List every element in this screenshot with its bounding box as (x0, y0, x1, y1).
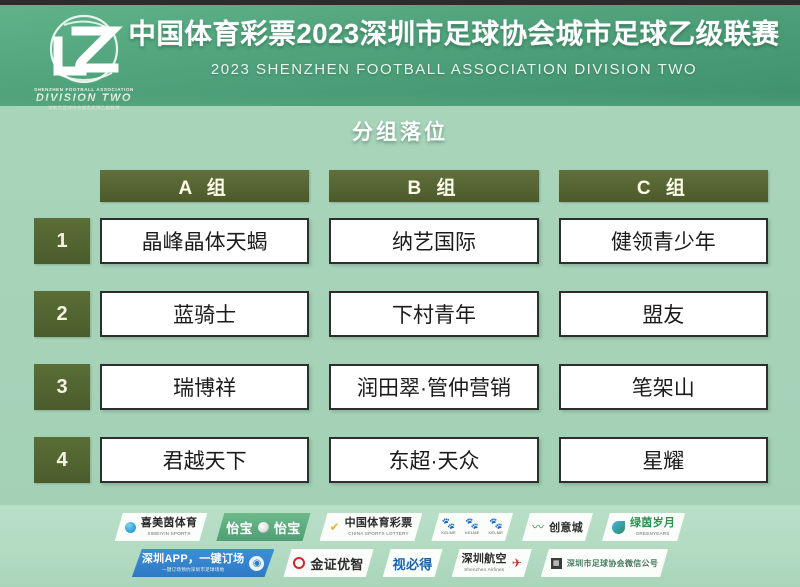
sponsor-name: 怡宝 (226, 518, 253, 537)
logo-caption-bottom: 深圳市足球协会城市足球乙级联赛 (24, 105, 144, 111)
sponsor-bar: 喜美茵体育 XIMEIYIN SPORTS 怡宝 怡宝 ✔ 中国体育彩票 CHI… (0, 505, 800, 587)
group-header-c: C 组 (559, 170, 768, 202)
team-cell-c4[interactable]: 星耀 (559, 437, 768, 483)
sponsor-name: 绿茵岁月 (630, 517, 675, 531)
sponsor-name: 深圳航空 (462, 553, 507, 567)
kelme-paw-icon: 🐾 (465, 519, 479, 530)
team-cell-a2[interactable]: 蓝骑士 (100, 291, 309, 337)
sponsor-sports-lottery[interactable]: ✔ 中国体育彩票 CHINA SPORTS LOTTERY (320, 513, 423, 541)
team-cell-c3[interactable]: 笔架山 (559, 364, 768, 410)
row-number-badge: 1 (34, 218, 90, 264)
sponsor-name-en: 一键订场预约深圳市足球场地 (162, 567, 224, 573)
plane-icon: ✈ (512, 557, 522, 569)
sponsor-name-en: KELME (441, 530, 456, 535)
sponsor-shibide[interactable]: 视必得 (383, 549, 443, 577)
table-row: 1 晶峰晶体天蝎 纳艺国际 健领青少年 (0, 218, 800, 264)
sponsor-shenzhen-airlines[interactable]: 深圳航空 Shenzhen Airlines ✈ (452, 549, 532, 577)
team-cell-c2[interactable]: 盟友 (559, 291, 768, 337)
kelme-paw-icon: 🐾 (442, 519, 456, 530)
poster-root: SHENZHEN FOOTBALL ASSOCIATION DIVISION T… (0, 0, 800, 587)
team-cell-b3[interactable]: 润田翠·管仲营销 (329, 364, 538, 410)
table-row: 2 蓝骑士 下村青年 盟友 (0, 291, 800, 337)
yibao-panda-icon (258, 522, 269, 533)
sponsor-name-en: XIMEIYIN SPORTS (147, 531, 190, 537)
header-titles: 中国体育彩票2023深圳市足球协会城市足球乙级联赛 2023 SHENZHEN … (122, 15, 786, 78)
team-cell-a3[interactable]: 瑞博祥 (100, 364, 309, 410)
group-header-row: A 组 B 组 C 组 (0, 170, 800, 202)
sponsor-shenzhen-app[interactable]: 深圳APP，一键订场 一键订场预约深圳市足球场地 ◉ (132, 549, 275, 577)
sponsor-ximeiyin[interactable]: 喜美茵体育 XIMEIYIN SPORTS (115, 513, 208, 541)
sponsor-name-en: GREENYEARS (636, 531, 670, 537)
sponsor-sfa-wechat[interactable]: ▦ 深圳市足球协会微信公号 (541, 549, 668, 577)
sponsor-creative-city[interactable]: 〰 创意城 (522, 513, 593, 541)
kelme-paw-icon: 🐾 (489, 519, 503, 530)
section-title: 分组落位 (0, 116, 800, 146)
row-number-badge: 2 (34, 291, 90, 337)
table-row: 4 君越天下 东超·天众 星耀 (0, 437, 800, 483)
creative-city-icon: 〰 (532, 521, 544, 533)
sponsor-name: 深圳市足球协会微信公号 (567, 558, 658, 569)
sponsor-row-1: 喜美茵体育 XIMEIYIN SPORTS 怡宝 怡宝 ✔ 中国体育彩票 CHI… (0, 505, 800, 545)
sponsor-yibao[interactable]: 怡宝 怡宝 (216, 513, 310, 541)
sponsor-name: 中国体育彩票 (345, 517, 413, 531)
team-cell-a1[interactable]: 晶峰晶体天蝎 (100, 218, 309, 264)
sponsor-greenyears[interactable]: 绿茵岁月 GREENYEARS (602, 513, 685, 541)
team-cell-c1[interactable]: 健领青少年 (559, 218, 768, 264)
page-title: 中国体育彩票2023深圳市足球协会城市足球乙级联赛 (122, 15, 786, 52)
sponsor-name-en: KELME (465, 530, 480, 535)
page-subtitle-en: 2023 SHENZHEN FOOTBALL ASSOCIATION DIVIS… (122, 61, 786, 78)
row-number-badge: 3 (34, 364, 90, 410)
sponsor-kelme[interactable]: 🐾 KELME 🐾 KELME 🐾 KELME (431, 513, 513, 541)
team-cell-a4[interactable]: 君越天下 (100, 437, 309, 483)
sponsor-name: 视必得 (393, 554, 433, 573)
sponsor-name: 喜美茵体育 (141, 517, 198, 531)
logo-caption-mid: DIVISION TWO (24, 92, 144, 104)
group-header-b: B 组 (329, 170, 538, 202)
sponsor-name: 金证优智 (310, 554, 363, 573)
group-table: A 组 B 组 C 组 1 晶峰晶体天蝎 纳艺国际 健领青少年 2 蓝骑士 下村… (0, 170, 800, 510)
jinzheng-ring-icon (293, 557, 305, 569)
sponsor-row-2: 深圳APP，一键订场 一键订场预约深圳市足球场地 ◉ 金证优智 视必得 深圳航空… (0, 545, 800, 581)
sponsor-name: 深圳APP，一键订场 (142, 553, 245, 567)
logo-caption: SHENZHEN FOOTBALL ASSOCIATION DIVISION T… (24, 87, 144, 111)
sponsor-name-en: KELME (489, 530, 504, 535)
sponsor-jinzheng[interactable]: 金证优智 (283, 549, 373, 577)
team-cell-b2[interactable]: 下村青年 (329, 291, 538, 337)
row-number-badge: 4 (34, 437, 90, 483)
ximeiyin-logo-icon (125, 522, 136, 533)
poster-header: SHENZHEN FOOTBALL ASSOCIATION DIVISION T… (0, 5, 800, 106)
sponsor-name: 创意城 (549, 519, 583, 535)
group-header-a: A 组 (100, 170, 309, 202)
sponsor-name-en: CHINA SPORTS LOTTERY (348, 531, 409, 537)
sports-lottery-icon: ✔ (330, 521, 340, 533)
sponsor-name-en: Shenzhen Airlines (464, 567, 504, 573)
table-row: 3 瑞博祥 润田翠·管仲营销 笔架山 (0, 364, 800, 410)
team-cell-b4[interactable]: 东超·天众 (329, 437, 538, 483)
bulb-icon: ◉ (249, 556, 264, 571)
team-cell-b1[interactable]: 纳艺国际 (329, 218, 538, 264)
sponsor-name-repeat: 怡宝 (274, 518, 301, 537)
qrcode-icon: ▦ (551, 558, 562, 569)
greenyears-leaf-icon (612, 521, 625, 534)
